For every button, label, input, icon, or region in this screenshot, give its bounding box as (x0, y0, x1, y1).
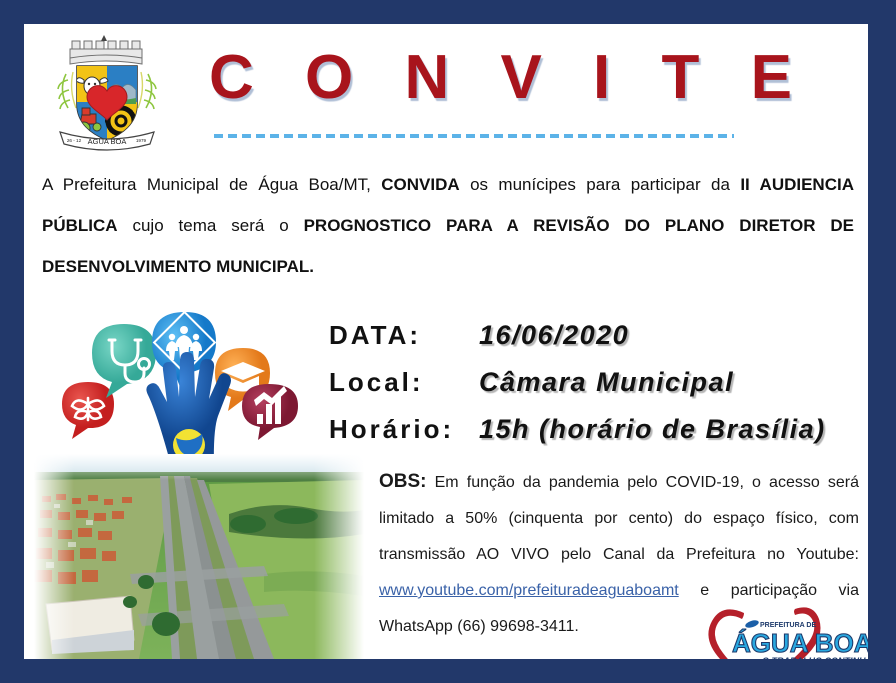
intro-text-1: A Prefeitura Municipal de Água Boa/MT, (42, 175, 381, 194)
detail-label-date: DATA: (329, 320, 479, 351)
logo-main-text: ÁGUA BOA (732, 628, 868, 658)
aerial-photo-agua-boa (34, 454, 364, 659)
crest-banner-left: 26 - 12 (67, 138, 82, 143)
detail-label-time: Horário: (329, 414, 479, 445)
detail-value-date: 16/06/2020 (479, 320, 629, 351)
logo-tagline: O TRABALHO CONTINUA! (762, 656, 868, 659)
crest-banner-right: 1979 (136, 138, 147, 143)
invitation-poster: ÁGUA BOA 26 - 12 1979 C O N V I T E A Pr… (0, 0, 896, 683)
poster-sheet: ÁGUA BOA 26 - 12 1979 C O N V I T E A Pr… (24, 24, 868, 659)
prefeitura-agua-boa-logo: PREFEITURA DE ÁGUA BOA O TRABALHO CONTIN… (700, 607, 868, 659)
bubble-economy (242, 384, 298, 440)
detail-row-date: DATA: 16/06/2020 (329, 312, 868, 359)
intro-text-3: cujo tema será o (118, 216, 304, 235)
event-details: DATA: 16/06/2020 Local: Câmara Municipal… (329, 312, 868, 453)
intro-paragraph: A Prefeitura Municipal de Água Boa/MT, C… (42, 164, 854, 287)
page-title: C O N V I T E (204, 30, 814, 126)
intro-text-2: os munícipes para participar da (460, 175, 741, 194)
detail-label-local: Local: (329, 367, 479, 398)
detail-row-local: Local: Câmara Municipal (329, 359, 868, 406)
detail-value-local: Câmara Municipal (479, 367, 734, 398)
obs-text-1: Em função da pandemia pelo COVID-19, o a… (379, 474, 859, 563)
youtube-channel-link[interactable]: www.youtube.com/prefeituradeaguaboamt (379, 582, 679, 599)
title-block: C O N V I T E (194, 30, 814, 150)
bubble-agriculture (62, 382, 114, 439)
detail-value-time: 15h (horário de Brasília) (479, 414, 826, 445)
obs-label: OBS: (379, 471, 427, 492)
intro-convida: CONVIDA (381, 175, 459, 194)
crest-banner-text: ÁGUA BOA (88, 137, 127, 146)
detail-row-time: Horário: 15h (horário de Brasília) (329, 406, 868, 453)
coat-of-arms-icon: ÁGUA BOA 26 - 12 1979 (42, 28, 172, 154)
poster-header: ÁGUA BOA 26 - 12 1979 C O N V I T E (24, 24, 868, 154)
hand-with-speech-bubbles-graphic (54, 304, 312, 469)
title-dashed-rule (214, 134, 734, 138)
